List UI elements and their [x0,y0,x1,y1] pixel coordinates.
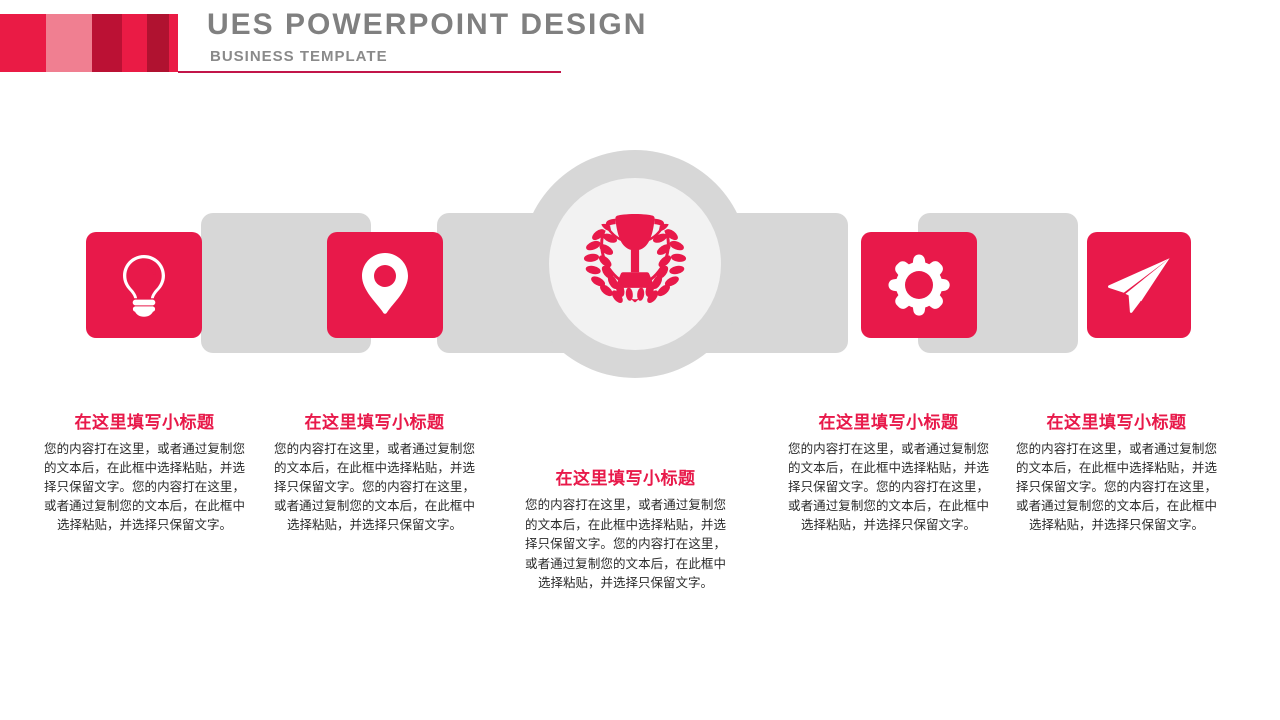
column-heading: 在这里填写小标题 [788,412,989,434]
text-column-1: 在这里填写小标题 您的内容打在这里，或者通过复制您的文本后，在此框中选择粘贴，并… [44,412,245,535]
column-body: 您的内容打在这里，或者通过复制您的文本后，在此框中选择粘贴，并选择只保留文字。您… [788,440,989,535]
slide-canvas: UES POWERPOINT DESIGN BUSINESS TEMPLATE [0,0,1280,720]
location-pin-icon [359,252,411,318]
text-column-4: 在这里填写小标题 您的内容打在这里，或者通过复制您的文本后，在此框中选择粘贴，并… [788,412,989,535]
column-body: 您的内容打在这里，或者通过复制您的文本后，在此框中选择粘贴，并选择只保留文字。您… [44,440,245,535]
column-body: 您的内容打在这里，或者通过复制您的文本后，在此框中选择粘贴，并选择只保留文字。您… [1016,440,1217,535]
column-body: 您的内容打在这里，或者通过复制您的文本后，在此框中选择粘贴，并选择只保留文字。您… [274,440,475,535]
column-heading: 在这里填写小标题 [274,412,475,434]
text-column-5: 在这里填写小标题 您的内容打在这里，或者通过复制您的文本后，在此框中选择粘贴，并… [1016,412,1217,535]
page-subtitle: BUSINESS TEMPLATE [210,47,647,67]
header-stripe [122,14,147,72]
column-heading: 在这里填写小标题 [44,412,245,434]
paper-plane-icon [1106,255,1172,315]
header-stripe [46,14,92,72]
header-stripe [0,14,46,72]
lightbulb-icon [117,253,171,317]
header-title-block: UES POWERPOINT DESIGN BUSINESS TEMPLATE [207,8,647,67]
column-heading: 在这里填写小标题 [1016,412,1217,434]
icon-tile-paper-plane[interactable] [1087,232,1191,338]
column-heading: 在这里填写小标题 [525,468,726,490]
icon-tile-gear[interactable] [861,232,977,338]
header-divider-rule [178,71,561,73]
gear-icon [887,253,951,317]
header-stripe [147,14,169,72]
header-stripe-group [0,14,178,72]
text-column-2: 在这里填写小标题 您的内容打在这里，或者通过复制您的文本后，在此框中选择粘贴，并… [274,412,475,535]
header-stripe [92,14,122,72]
text-column-3: 在这里填写小标题 您的内容打在这里，或者通过复制您的文本后，在此框中选择粘贴，并… [525,468,726,594]
page-title: UES POWERPOINT DESIGN [207,8,647,42]
trophy-laurel-icon [573,206,697,322]
header-stripe [169,14,178,72]
icon-tile-lightbulb[interactable] [86,232,202,338]
column-body: 您的内容打在这里，或者通过复制您的文本后，在此框中选择粘贴，并选择只保留文字。您… [525,496,726,594]
icon-tile-location[interactable] [327,232,443,338]
